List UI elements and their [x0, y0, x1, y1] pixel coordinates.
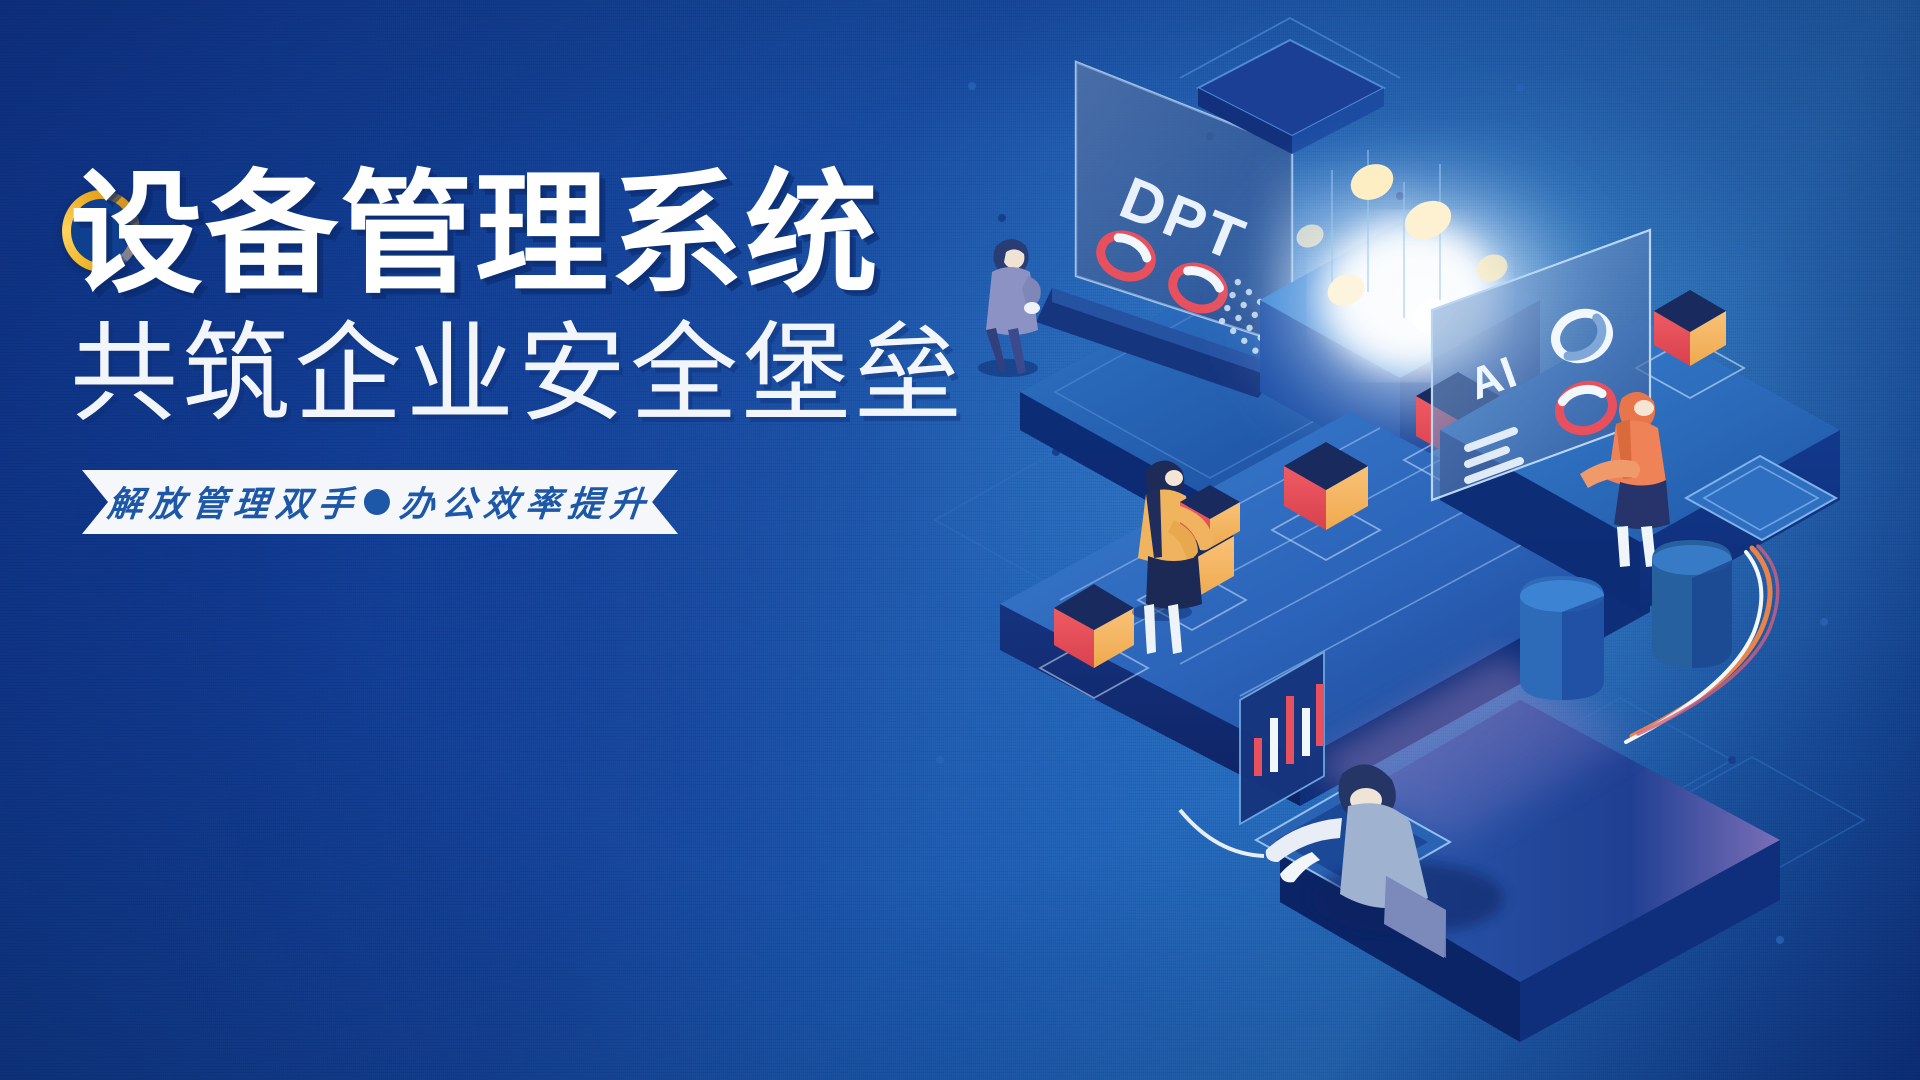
- tagline-separator-dot: [364, 489, 390, 515]
- isometric-illustration: DPT: [880, 0, 1920, 1080]
- banner-stage: DPT: [0, 0, 1920, 1080]
- tagline-left: 解放管理双手: [105, 476, 362, 527]
- cylinder-column: [1520, 576, 1604, 700]
- headline-block: 设备管理系统 共筑企业安全堡垒 解放管理双手 办公效率提升: [70, 168, 970, 534]
- tagline-right: 办公效率提升: [397, 476, 654, 527]
- page-subtitle: 共筑企业安全堡垒: [70, 318, 970, 430]
- cylinder-column: [1652, 540, 1732, 668]
- page-title: 设备管理系统: [70, 168, 970, 304]
- tagline-text: 解放管理双手 办公效率提升: [105, 476, 654, 527]
- person-at-dpt-screen: [978, 239, 1041, 377]
- tagline-ribbon: 解放管理双手 办公效率提升: [82, 470, 678, 534]
